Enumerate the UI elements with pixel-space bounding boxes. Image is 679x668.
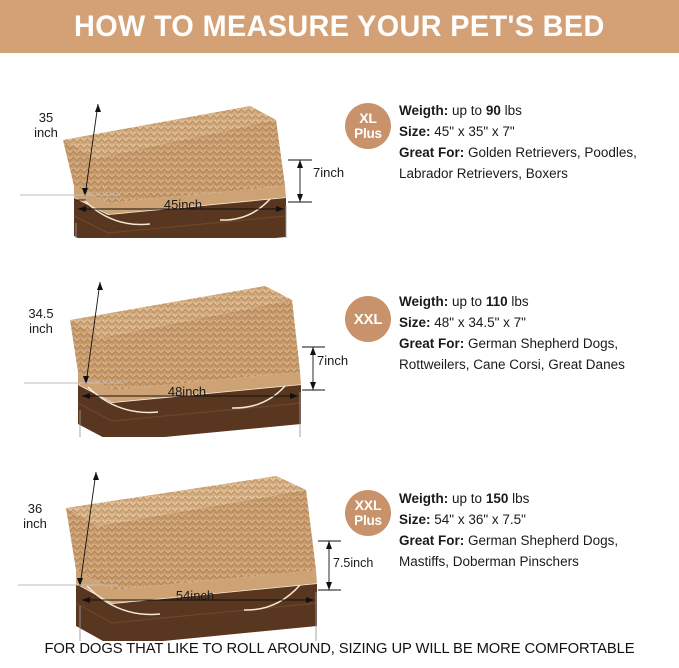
spec-weight-line: Weigth: up to 110 lbs xyxy=(399,291,625,312)
dimension-width-label-3: 54inch xyxy=(140,589,250,604)
spec-weight-prefix: up to xyxy=(452,103,482,118)
spec-size-label: Size: xyxy=(399,124,431,139)
spec-weight-prefix: up to xyxy=(452,491,482,506)
dimension-height-label-3: 7.5inch xyxy=(333,556,393,570)
badge-line-1: XXL xyxy=(355,498,382,513)
spec-greatfor-line1: Great For: German Shepherd Dogs, xyxy=(399,333,625,354)
dimension-depth-label-1: 35 inch xyxy=(26,111,66,140)
header-banner: HOW TO MEASURE YOUR PET'S BED xyxy=(0,0,679,53)
dimension-depth-label-2: 34.5 inch xyxy=(16,307,66,336)
badge-line-1: XXL xyxy=(354,312,383,327)
spec-greatfor-line2: Mastiffs, Doberman Pinschers xyxy=(399,551,618,572)
badge-line-2: Plus xyxy=(354,513,382,528)
spec-size-label: Size: xyxy=(399,315,431,330)
page-title: HOW TO MEASURE YOUR PET'S BED xyxy=(74,10,605,44)
spec-text-xl-plus: Weigth: up to 90 lbs Size: 45" x 35" x 7… xyxy=(399,100,637,184)
spec-greatfor-value1: Golden Retrievers, Poodles, xyxy=(468,145,637,160)
badge-line-2: Plus xyxy=(354,126,382,141)
infographic-page: HOW TO MEASURE YOUR PET'S BED xyxy=(0,0,679,668)
product-row-xxl: 34.5 inch 48inch 7inch XXL Weigth: up to… xyxy=(0,272,679,432)
spec-size-line: Size: 45" x 35" x 7" xyxy=(399,121,637,142)
spec-weight-unit: lbs xyxy=(511,294,528,309)
bed-illustration-3 xyxy=(0,466,345,641)
spec-greatfor-label: Great For: xyxy=(399,145,464,160)
spec-size-label: Size: xyxy=(399,512,431,527)
spec-size-value: 54" x 36" x 7.5" xyxy=(434,512,526,527)
spec-weight-line: Weigth: up to 150 lbs xyxy=(399,488,618,509)
product-row-xxl-plus: 36 inch 54inch 7.5inch XXL Plus Weigth: … xyxy=(0,466,679,636)
spec-weight-unit: lbs xyxy=(512,491,529,506)
spec-size-line: Size: 48" x 34.5" x 7" xyxy=(399,312,625,333)
spec-text-xxl-plus: Weigth: up to 150 lbs Size: 54" x 36" x … xyxy=(399,488,618,572)
spec-weight-label: Weigth: xyxy=(399,103,448,118)
badge-line-1: XL xyxy=(359,111,377,126)
spec-weight-value: 150 xyxy=(486,491,509,506)
spec-text-xxl: Weigth: up to 110 lbs Size: 48" x 34.5" … xyxy=(399,291,625,375)
spec-greatfor-line1: Great For: German Shepherd Dogs, xyxy=(399,530,618,551)
size-badge-xxl-plus: XXL Plus xyxy=(345,490,391,536)
dimension-depth-label-3: 36 inch xyxy=(12,502,58,531)
size-badge-xl-plus: XL Plus xyxy=(345,103,391,149)
spec-weight-label: Weigth: xyxy=(399,491,448,506)
dimension-width-label-2: 48inch xyxy=(132,385,242,400)
spec-greatfor-line1: Great For: Golden Retrievers, Poodles, xyxy=(399,142,637,163)
spec-greatfor-label: Great For: xyxy=(399,533,464,548)
spec-size-value: 45" x 35" x 7" xyxy=(434,124,514,139)
spec-size-line: Size: 54" x 36" x 7.5" xyxy=(399,509,618,530)
size-badge-xxl: XXL xyxy=(345,296,391,342)
spec-greatfor-value1: German Shepherd Dogs, xyxy=(468,533,618,548)
dimension-height-label-2: 7inch xyxy=(317,354,367,369)
spec-weight-value: 110 xyxy=(486,294,508,309)
spec-greatfor-label: Great For: xyxy=(399,336,464,351)
spec-greatfor-line2: Rottweilers, Cane Corsi, Great Danes xyxy=(399,354,625,375)
spec-weight-prefix: up to xyxy=(452,294,482,309)
spec-weight-unit: lbs xyxy=(505,103,522,118)
spec-greatfor-line2: Labrador Retrievers, Boxers xyxy=(399,163,637,184)
footer-note: FOR DOGS THAT LIKE TO ROLL AROUND, SIZIN… xyxy=(5,640,674,657)
spec-weight-value: 90 xyxy=(486,103,501,118)
spec-size-value: 48" x 34.5" x 7" xyxy=(434,315,526,330)
dimension-width-label-1: 45inch xyxy=(128,198,238,213)
spec-greatfor-value1: German Shepherd Dogs, xyxy=(468,336,618,351)
bed-illustration-2 xyxy=(0,272,340,437)
product-row-xl-plus: 35 inch 45inch 7inch XL Plus Weigth: up … xyxy=(0,78,679,238)
spec-weight-label: Weigth: xyxy=(399,294,448,309)
dimension-height-label-1: 7inch xyxy=(313,166,363,181)
bed-illustration-1 xyxy=(0,78,340,238)
spec-weight-line: Weigth: up to 90 lbs xyxy=(399,100,637,121)
